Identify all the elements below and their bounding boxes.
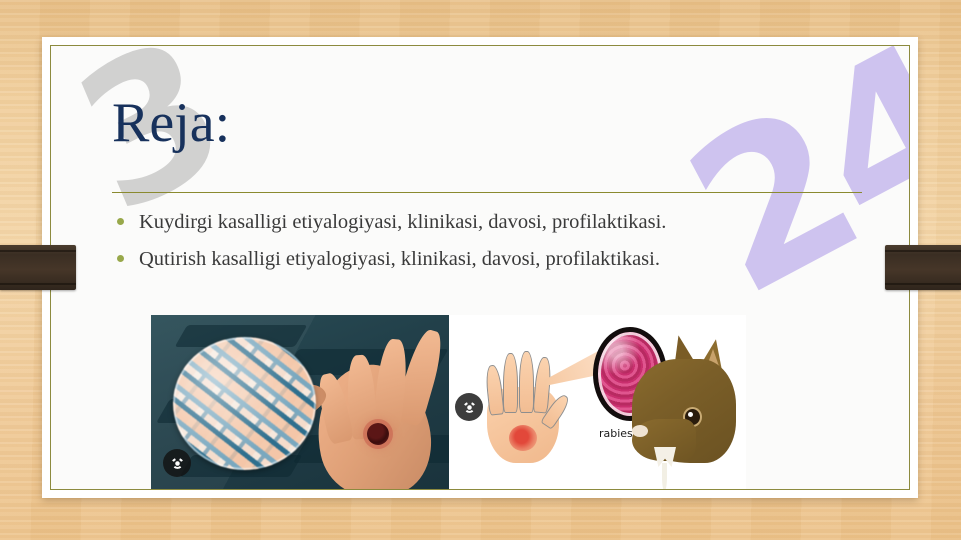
bullet-text: Kuydirgi kasalligi etiyalogiyasi, klinik…	[139, 209, 666, 237]
bite-wound	[509, 425, 537, 451]
bullet-marker-icon	[117, 218, 124, 225]
image-row: rabies virus	[151, 315, 746, 489]
google-lens-icon[interactable]	[455, 393, 483, 421]
google-lens-icon[interactable]	[163, 449, 191, 477]
title-divider-line	[112, 192, 862, 193]
binder-strap-left	[0, 245, 76, 290]
purple-number-watermark: 24	[661, 46, 909, 327]
dog-nose	[632, 425, 648, 437]
bitten-hand	[481, 347, 573, 465]
magnified-bacteria-circle	[173, 337, 316, 470]
list-item: Qutirish kasalligi etiyalogiyasi, klinik…	[113, 246, 873, 274]
slide-content: 3 24 Reja: Kuydirgi kasalligi etiyalogiy…	[51, 46, 909, 489]
bullet-list: Kuydirgi kasalligi etiyalogiyasi, klinik…	[113, 209, 873, 282]
bullet-marker-icon	[117, 255, 124, 262]
anthrax-image	[151, 315, 449, 489]
dog-head	[632, 359, 736, 463]
slide-title: Reja:	[112, 94, 230, 153]
binder-strap-right	[885, 245, 961, 290]
rabid-dog-illustration	[614, 333, 740, 473]
finger	[519, 351, 534, 413]
finger	[503, 353, 518, 413]
slide-frame: 3 24 Reja: Kuydirgi kasalligi etiyalogiy…	[50, 45, 910, 490]
bullet-text: Qutirish kasalligi etiyalogiyasi, klinik…	[139, 246, 660, 274]
rabies-image: rabies virus	[449, 315, 746, 489]
slide-card: 3 24 Reja: Kuydirgi kasalligi etiyalogiy…	[42, 37, 918, 498]
dog-drool	[662, 463, 667, 489]
anthrax-lesion	[367, 423, 389, 445]
list-item: Kuydirgi kasalligi etiyalogiyasi, klinik…	[113, 209, 873, 237]
